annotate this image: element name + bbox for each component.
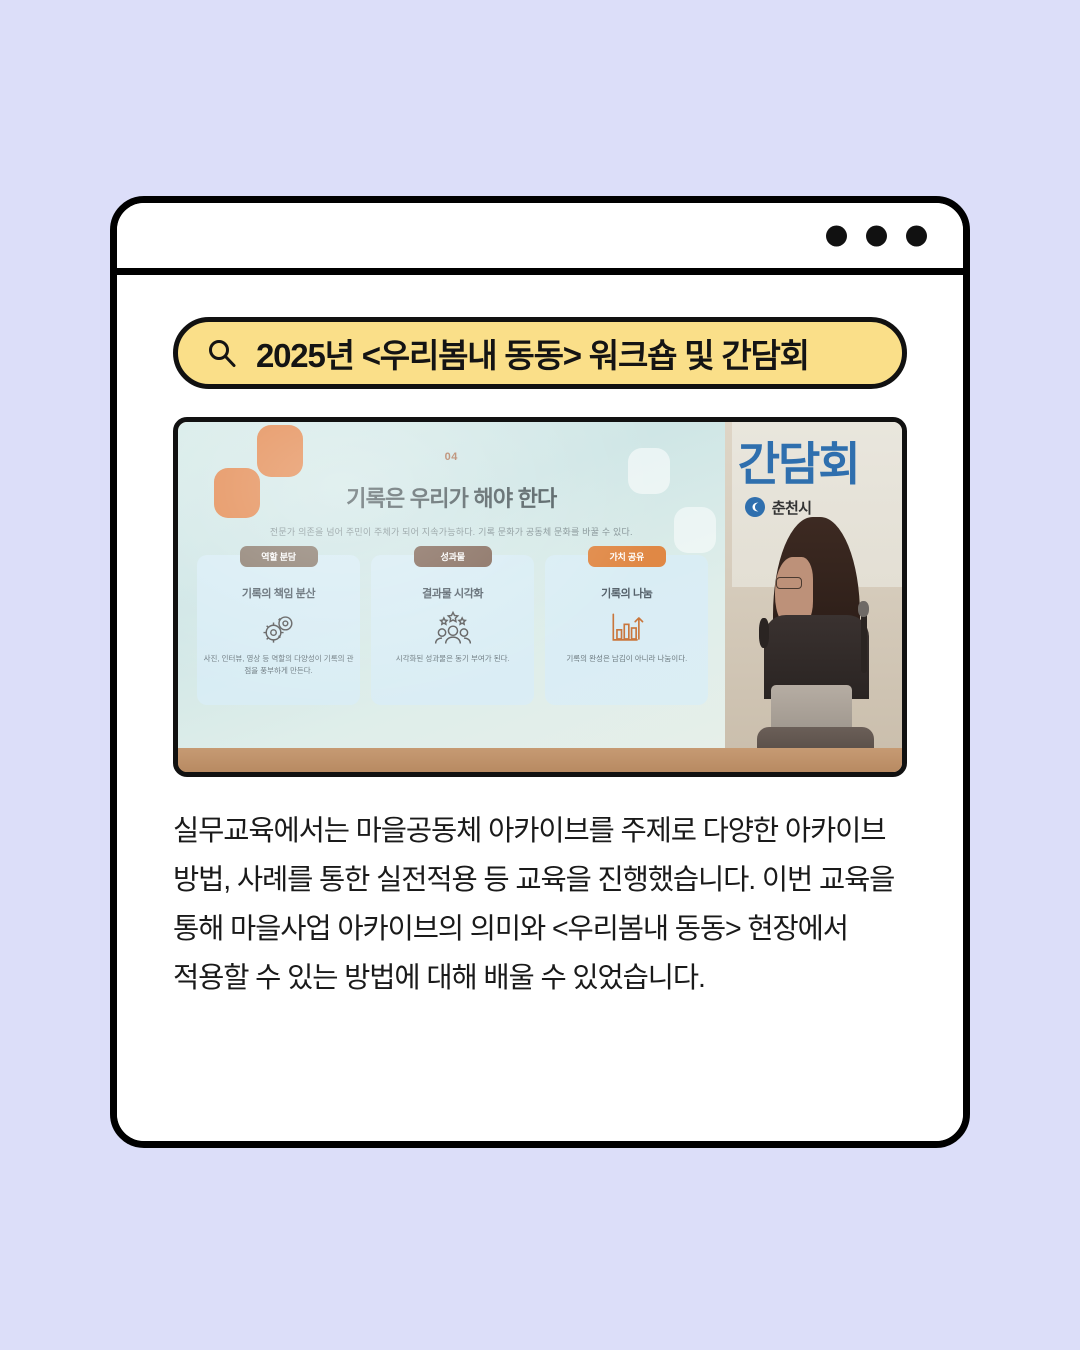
people-stars-icon [377, 608, 528, 648]
page-title: 2025년 <우리봄내 동동> 워크숍 및 간담회 [256, 329, 809, 377]
slide-subtitle: 전문가 의존을 넘어 주민이 주체가 되어 지속가능하다. 기록 문화가 공동체… [200, 525, 703, 538]
banner-org-name: 춘천시 [772, 497, 812, 518]
browser-window-card: 2025년 <우리봄내 동동> 워크숍 및 간담회 04 기록은 우리가 해야 … [110, 196, 970, 1148]
slide-card: 성과물 결과물 시각화 [371, 555, 534, 705]
page-root: 2025년 <우리봄내 동동> 워크숍 및 간담회 04 기록은 우리가 해야 … [0, 0, 1080, 1350]
window-dot-3[interactable] [906, 225, 927, 246]
slide-card-badge: 가치 공유 [588, 546, 666, 567]
window-dot-1[interactable] [826, 225, 847, 246]
room-wall: 간담회 춘천시 [725, 422, 902, 772]
slide-card-list: 역할 분담 기록의 책임 분산 사진, 인터뷰, 영상 등 역할의 다양성이 기… [197, 555, 708, 705]
search-icon [206, 337, 238, 369]
banner-organization: 춘천시 [744, 496, 812, 518]
speaker-glasses [776, 577, 802, 590]
handheld-microphone-icon [759, 618, 770, 647]
window-controls[interactable] [826, 225, 927, 246]
page-title-pill: 2025년 <우리봄내 동동> 워크숍 및 간담회 [173, 317, 907, 389]
slide-number: 04 [178, 451, 725, 463]
window-titlebar [117, 203, 963, 275]
bar-chart-arrow-icon [551, 608, 702, 648]
slide-card-description: 시각화된 성과물은 동기 부여가 된다. [377, 653, 528, 665]
slide-card-description: 사진, 인터뷰, 영상 등 역할의 다양성이 기록의 관점을 풍부하게 만든다. [203, 653, 354, 676]
workshop-photo: 04 기록은 우리가 해야 한다 전문가 의존을 넘어 주민이 주체가 되어 지… [173, 417, 907, 777]
slide-card-heading: 결과물 시각화 [377, 585, 528, 601]
mic-stand-icon [861, 611, 867, 673]
banner-title: 간담회 [738, 428, 859, 494]
speaker-with-microphone [757, 517, 874, 699]
body-paragraph: 실무교육에서는 마을공동체 아카이브를 주제로 다양한 아카이브 방법, 사례를… [173, 807, 907, 1003]
slide-card-heading: 기록의 책임 분산 [203, 585, 354, 601]
slide-card-badge: 역할 분담 [240, 546, 318, 567]
slide-card-description: 기록의 완성은 남김이 아니라 나눔이다. [551, 653, 702, 665]
chuncheon-logo-icon [744, 496, 766, 518]
window-content: 2025년 <우리봄내 동동> 워크숍 및 간담회 04 기록은 우리가 해야 … [117, 275, 963, 1141]
window-dot-2[interactable] [866, 225, 887, 246]
slide-card: 역할 분담 기록의 책임 분산 사진, 인터뷰, 영상 등 역할의 다양성이 기… [197, 555, 360, 705]
slide-card-heading: 기록의 나눔 [551, 585, 702, 601]
slide-card-badge: 성과물 [414, 546, 492, 567]
slide-title: 기록은 우리가 해야 한다 [178, 481, 725, 513]
gears-icon [203, 608, 354, 648]
projection-screen: 04 기록은 우리가 해야 한다 전문가 의존을 넘어 주민이 주체가 되어 지… [178, 422, 725, 748]
photo-floor [178, 748, 902, 773]
slide-card: 가치 공유 기록의 나눔 [545, 555, 708, 705]
